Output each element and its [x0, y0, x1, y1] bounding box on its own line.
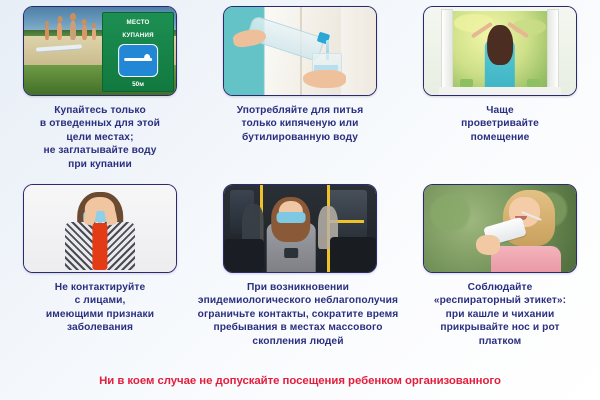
- plant-pot: [527, 79, 539, 87]
- pouring-bottled-water-photo: [224, 7, 376, 95]
- advice-cell-limit-crowds: При возникновении эпидемиологического не…: [200, 178, 400, 368]
- woman-removing-mask-in-park-photo: [424, 185, 576, 272]
- hand-holding-glass: [303, 70, 346, 88]
- photo-card-drinking-water: [223, 6, 377, 96]
- photo-card-respiratory-etiquette: [423, 184, 577, 273]
- bather-figure: [92, 28, 96, 40]
- footer-warning-text: Ни в коем случае не допускайте посещения…: [0, 375, 600, 387]
- pink-shirt: [491, 246, 561, 272]
- park-foliage-blur: [430, 194, 470, 232]
- photo-card-avoid-contact: [23, 184, 177, 273]
- woman-in-mask-on-bus-photo: [224, 185, 376, 272]
- advice-cell-avoid-contact: Не контактируйте с лицами, имеющими приз…: [0, 178, 200, 368]
- woman-hair: [487, 25, 513, 65]
- beach-swimming-place-photo: МЕСТО КУПАНИЯ 50м: [24, 7, 176, 95]
- bather-figure: [70, 21, 76, 40]
- caption-drinking-water: Употребляйте для питья только кипяченую …: [202, 104, 398, 144]
- sick-girl-in-mask-photo: [24, 185, 176, 272]
- plant-pot: [460, 79, 472, 87]
- photo-card-limit-crowds: [223, 184, 377, 273]
- woman-opening-window-photo: [424, 7, 576, 95]
- window-frame-left: [441, 9, 454, 95]
- swimmer-icon: [118, 44, 158, 77]
- sign-line-1: МЕСТО: [103, 19, 173, 26]
- medical-mask: [276, 212, 305, 223]
- bus-seat: [224, 239, 264, 272]
- bather-figure: [45, 26, 49, 40]
- health-advice-poster: МЕСТО КУПАНИЯ 50м Купайтесь только в отв…: [0, 0, 600, 400]
- window-frame-right: [547, 9, 560, 95]
- hand-holding-bottle: [232, 27, 268, 48]
- caption-swimming: Купайтесь только в отведенных для этой ц…: [2, 104, 198, 171]
- advice-cell-ventilate: Чаще проветривайте помещение: [400, 0, 600, 178]
- red-top: [92, 223, 107, 270]
- advice-cell-swimming: МЕСТО КУПАНИЯ 50м Купайтесь только в отв…: [0, 0, 200, 178]
- caption-avoid-contact: Не контактируйте с лицами, имеющими приз…: [2, 281, 198, 335]
- caption-limit-crowds: При возникновении эпидемиологического не…: [191, 281, 405, 348]
- advice-cell-respiratory-etiquette: Соблюдайте «респираторный этикет»: при к…: [400, 178, 600, 368]
- bather-figure: [82, 25, 87, 40]
- bus-seat: [330, 237, 376, 272]
- advice-cell-drinking-water: Употребляйте для питья только кипяченую …: [200, 0, 400, 178]
- smartphone: [284, 248, 298, 258]
- sign-distance-label: 50м: [103, 81, 173, 88]
- photo-card-swimming: МЕСТО КУПАНИЯ 50м: [23, 6, 177, 96]
- sign-line-2: КУПАНИЯ: [103, 32, 173, 39]
- bather-figure: [57, 23, 62, 40]
- caption-ventilate: Чаще проветривайте помещение: [402, 104, 598, 144]
- caption-respiratory-etiquette: Соблюдайте «респираторный этикет»: при к…: [398, 281, 600, 348]
- window-sill: [439, 87, 561, 95]
- advice-grid: МЕСТО КУПАНИЯ 50м Купайтесь только в отв…: [0, 0, 600, 368]
- hand-holding-mask: [476, 235, 500, 254]
- swimming-place-sign: МЕСТО КУПАНИЯ 50м: [102, 12, 174, 91]
- photo-card-ventilate: [423, 6, 577, 96]
